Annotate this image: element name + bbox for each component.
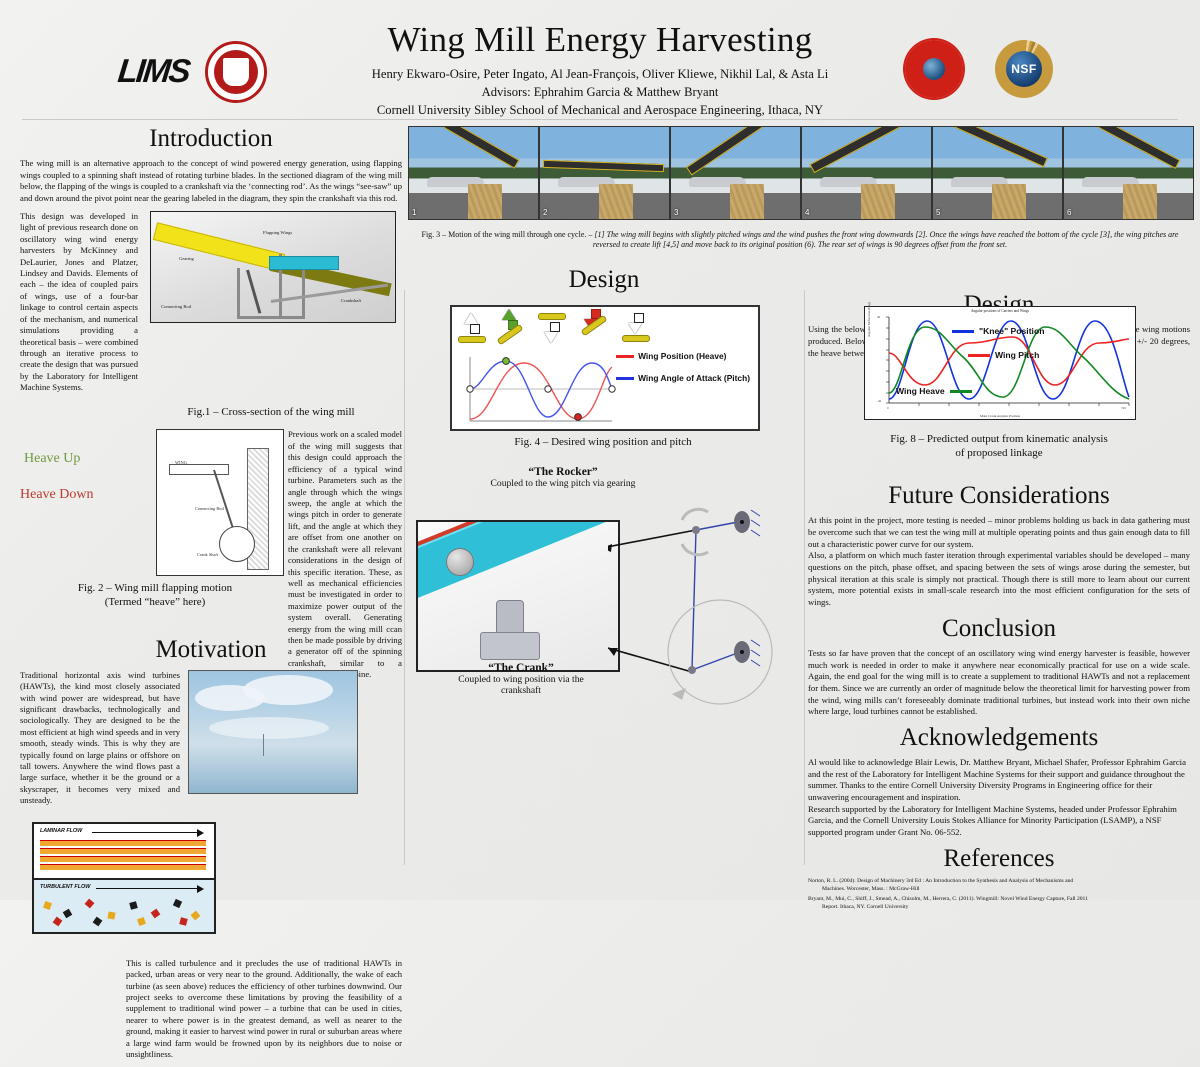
figure-8-caption-line2: of proposed linkage <box>955 447 1042 459</box>
fig1-gearbox <box>269 256 339 270</box>
fig2-label-connecting-rod: Connecting Rod <box>195 506 229 511</box>
legend-swatch-wing-pitch <box>968 354 990 358</box>
crank-label: “The Crank” Coupled to wing position via… <box>446 662 596 697</box>
laminar-turbulent-flow-diagram: LAMINAR FLOW TURBULENT FLOW <box>32 822 216 934</box>
cornell-seal-logo <box>205 41 267 103</box>
legend-swatch-knee <box>952 330 974 334</box>
nsf-globe-icon: NSF <box>1006 51 1042 87</box>
fig1-label-flapping-wings: Flapping Wings <box>263 230 292 235</box>
reference-2-cont: Report. Ithaca, NY. Cornell University <box>808 904 1190 912</box>
figure-8-caption: Fig. 8 – Predicted output from kinematic… <box>808 433 1190 461</box>
column-right: Design Using the below four bar linkages… <box>808 126 1190 911</box>
cad-gear-hub <box>446 548 474 576</box>
legend-swatch-heave <box>616 355 634 358</box>
figure-1-crosssection: Flapping Wings Gearing Connecting Rod Cr… <box>150 211 396 323</box>
figure-8-legend-heave: Wing Heave <box>896 386 972 396</box>
column-left: Introduction The wing mill is an alterna… <box>20 126 402 814</box>
seal-shield-icon <box>223 58 249 86</box>
introduction-paragraph-2: This design was developed in light of pr… <box>20 211 138 394</box>
legend-label-wing-pitch: Wing Pitch <box>995 350 1039 360</box>
turbine-silhouette-icon <box>263 734 264 756</box>
column-divider-left <box>404 290 405 865</box>
figure-4-caption: Fig. 4 – Desired wing position and pitch <box>450 436 756 450</box>
conclusion-heading: Conclusion <box>808 616 1190 642</box>
figure-4-legend: Wing Position (Heave) Wing Angle of Atta… <box>616 351 750 395</box>
column-divider-right <box>804 290 805 865</box>
wing-icon-down-pitched <box>584 309 608 329</box>
lims-logo: LIMS <box>116 52 191 90</box>
legend-item-pitch: Wing Angle of Attack (Pitch) <box>616 373 750 383</box>
figure-2-caption-line1: Fig. 2 – Wing mill flapping motion <box>78 582 232 594</box>
photo-number: 1 <box>412 208 416 217</box>
mechanism-cad-image <box>416 520 620 672</box>
motivation-block: Traditional horizontal axis wind turbine… <box>20 670 402 807</box>
design-heading-middle: Design <box>408 267 800 293</box>
reference-item: Bryant, M., Mui, C., Shiff, J., Smead, A… <box>808 896 1190 911</box>
wing-icon-down-2 <box>628 313 650 342</box>
legend-label-heave: Wing Position (Heave) <box>638 351 726 361</box>
crank-subtitle: Coupled to wing position via the cranksh… <box>446 674 596 697</box>
fig2-label-heave-up: Heave Up <box>24 451 80 467</box>
affiliation-line: Cornell University Sibley School of Mech… <box>0 102 1200 120</box>
acknowledgements-paragraph-1: Al would like to acknowledge Blair Lewis… <box>808 757 1190 804</box>
introduction-heading: Introduction <box>20 126 402 152</box>
turbulent-flow-panel: TURBULENT FLOW <box>34 880 214 932</box>
acknowledgements-heading: Acknowledgements <box>808 725 1190 751</box>
fig2-label-wing: WING <box>175 460 187 465</box>
figure-1-caption: Fig.1 – Cross-section of the wing mill <box>146 406 396 420</box>
reference-2-main: Bryant, M., Mui, C., Shiff, J., Smead, A… <box>808 896 1088 902</box>
nsf-logo: NSF <box>995 40 1053 98</box>
figure-3-caption-lead: Fig. 3 – Motion of the wing mill through… <box>422 230 595 239</box>
future-paragraph-1: At this point in the project, more testi… <box>808 515 1190 550</box>
motivation-paragraph-1: Traditional horizontal axis wind turbine… <box>20 670 180 807</box>
fig1-label-gearing: Gearing <box>179 256 194 261</box>
wing-icon-up-pitched <box>502 309 524 338</box>
acknowledgements-paragraph-2: Research supported by the Laboratory for… <box>808 804 1190 839</box>
figure-2-block: Heave Up Heave Down WING Connecting Rod … <box>20 429 402 579</box>
figure-2-flapping-motion: WING Connecting Rod Crank Shaft <box>156 429 284 576</box>
rocker-crank-diagram: “The Rocker” Coupled to the wing pitch v… <box>408 466 800 716</box>
figure-4-chart: Wing Position (Heave) Wing Angle of Atta… <box>450 305 760 431</box>
fig2-label-heave-down: Heave Down <box>20 487 93 503</box>
reference-item: Norton, R. L. (2004). Design of Machiner… <box>808 878 1190 893</box>
kinematic-schematic <box>608 486 798 716</box>
legend-label-knee: "Knee" Position <box>979 326 1044 336</box>
photo-number: 2 <box>543 208 547 217</box>
figure-8-caption-line1: Fig. 8 – Predicted output from kinematic… <box>890 433 1108 445</box>
poster-root: LIMS NSF Wing Mill Energy Harvesting Hen… <box>0 0 1200 900</box>
column-middle: 1 2 3 4 5 6 Fig. 3 – Motion of the wing … <box>408 126 800 716</box>
legend-swatch-wing-heave <box>950 390 972 394</box>
introduction-paragraph-3: Previous work on a scaled model of the w… <box>288 429 402 680</box>
conclusion-paragraph: Tests so far have proven that the concep… <box>808 648 1190 718</box>
figure-8-plot <box>865 307 1135 419</box>
figure-8-chart: Angular positions of Carriers and Wings … <box>864 306 1136 420</box>
wing-icon-down-1 <box>544 313 566 343</box>
photo-frame: 2 <box>540 127 669 219</box>
wing-icon-up-1 <box>464 313 486 343</box>
legend-label-wing-heave: Wing Heave <box>896 386 945 396</box>
future-considerations-heading: Future Considerations <box>808 483 1190 509</box>
mae-logo <box>905 40 963 98</box>
photo-frame: 1 <box>409 127 538 219</box>
crank-title: “The Crank” <box>446 662 596 674</box>
legend-item-heave: Wing Position (Heave) <box>616 351 750 361</box>
header-divider <box>22 119 1178 120</box>
photo-number: 3 <box>674 208 678 217</box>
laminar-flow-panel: LAMINAR FLOW <box>34 824 214 880</box>
introduction-paragraph-1: The wing mill is an alternative approach… <box>20 158 402 204</box>
cad-crank-base <box>480 632 540 660</box>
figure-8-xtick-last: 720 <box>1121 406 1126 410</box>
figure-8-legend-pitch: Wing Pitch <box>968 350 1039 360</box>
figure-2-caption: Fig. 2 – Wing mill flapping motion(Terme… <box>30 582 280 608</box>
fig1-label-connecting-rod: Connecting Rod <box>161 304 191 309</box>
reference-1-cont: Machines. Worcester, Mass. : McGraw-Hill <box>808 886 1190 894</box>
fig2-label-crank-shaft: Crank Shaft <box>197 552 218 557</box>
references-heading: References <box>808 846 1190 872</box>
figure-8-xtick-first: 0 <box>887 406 889 410</box>
figure-8-ytick-min: -40 <box>877 399 881 403</box>
rocker-title: “The Rocker” <box>488 466 638 478</box>
poster-header: LIMS NSF Wing Mill Energy Harvesting Hen… <box>0 0 1200 118</box>
future-paragraph-2: Also, a platform on which much faster it… <box>808 550 1190 608</box>
fig2-wing <box>169 464 229 475</box>
legend-swatch-pitch <box>616 377 634 380</box>
fig2-connecting-rod <box>213 470 234 530</box>
offshore-turbine-photo <box>188 670 358 794</box>
motivation-paragraph-2: This is called turbulence and it preclud… <box>126 958 402 1061</box>
photo-frame: 3 <box>671 127 800 219</box>
laminar-flow-label: LAMINAR FLOW <box>40 828 82 834</box>
figure-8-legend-knee: "Knee" Position <box>952 326 1044 336</box>
legend-label-pitch: Wing Angle of Attack (Pitch) <box>638 373 750 383</box>
reference-1-main: Norton, R. L. (2004). Design of Machiner… <box>808 878 1073 884</box>
fig1-label-crankshaft: Crankshaft <box>341 298 361 303</box>
turbulent-flow-label: TURBULENT FLOW <box>40 884 90 890</box>
figure-2-caption-line2: (Termed “heave” here) <box>105 596 206 608</box>
figure-8-ytick-max: 40 <box>877 315 880 319</box>
